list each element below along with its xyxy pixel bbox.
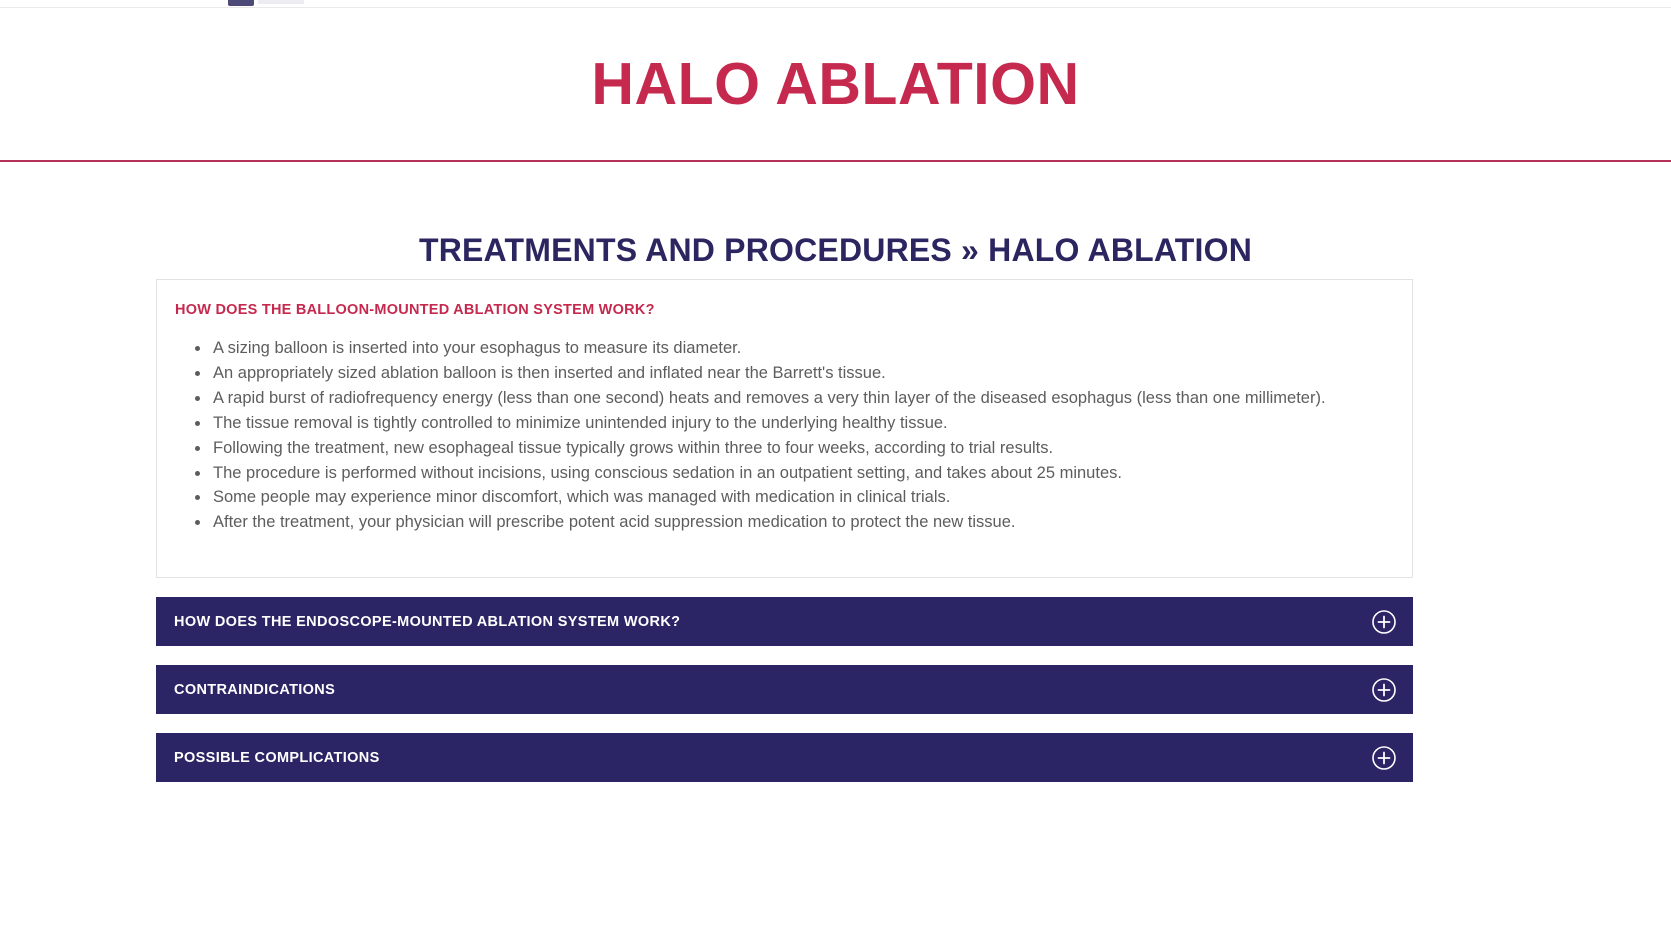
page-root: HALO ABLATION TREATMENTS AND PROCEDURES …: [0, 0, 1671, 938]
list-item: Following the treatment, new esophageal …: [213, 436, 1394, 460]
plus-circle-icon[interactable]: [1372, 678, 1396, 702]
procedure-steps-list: A sizing balloon is inserted into your e…: [175, 336, 1394, 535]
list-item: After the treatment, your physician will…: [213, 510, 1394, 534]
accordion-bar-possible-complications[interactable]: POSSIBLE COMPLICATIONS: [156, 733, 1413, 782]
cut-off-header-strip: [0, 0, 1671, 8]
cut-off-text-fragment: [258, 0, 304, 4]
accordion-list: HOW DOES THE BALLOON-MOUNTED ABLATION SY…: [156, 279, 1413, 782]
accordion-bar-label: POSSIBLE COMPLICATIONS: [174, 750, 380, 766]
hero-banner: HALO ABLATION: [0, 9, 1671, 162]
plus-circle-icon[interactable]: [1372, 746, 1396, 770]
accordion-panel-open: HOW DOES THE BALLOON-MOUNTED ABLATION SY…: [156, 279, 1413, 578]
plus-circle-icon[interactable]: [1372, 610, 1396, 634]
accordion-bar-label: HOW DOES THE ENDOSCOPE-MOUNTED ABLATION …: [174, 614, 680, 630]
breadcrumb: TREATMENTS AND PROCEDURES » HALO ABLATIO…: [419, 232, 1252, 269]
list-item: The tissue removal is tightly controlled…: [213, 411, 1394, 435]
accordion-bar-contraindications[interactable]: CONTRAINDICATIONS: [156, 665, 1413, 714]
list-item: An appropriately sized ablation balloon …: [213, 361, 1394, 385]
cut-off-logo-fragment: [228, 0, 254, 6]
list-item: The procedure is performed without incis…: [213, 461, 1394, 485]
accordion-bar-label: CONTRAINDICATIONS: [174, 682, 335, 698]
list-item: A sizing balloon is inserted into your e…: [213, 336, 1394, 360]
page-title: HALO ABLATION: [591, 55, 1079, 114]
list-item: Some people may experience minor discomf…: [213, 485, 1394, 509]
accordion-panel-open-title: HOW DOES THE BALLOON-MOUNTED ABLATION SY…: [175, 302, 1394, 318]
list-item: A rapid burst of radiofrequency energy (…: [213, 386, 1394, 410]
accordion-bar-endoscope-mounted[interactable]: HOW DOES THE ENDOSCOPE-MOUNTED ABLATION …: [156, 597, 1413, 646]
